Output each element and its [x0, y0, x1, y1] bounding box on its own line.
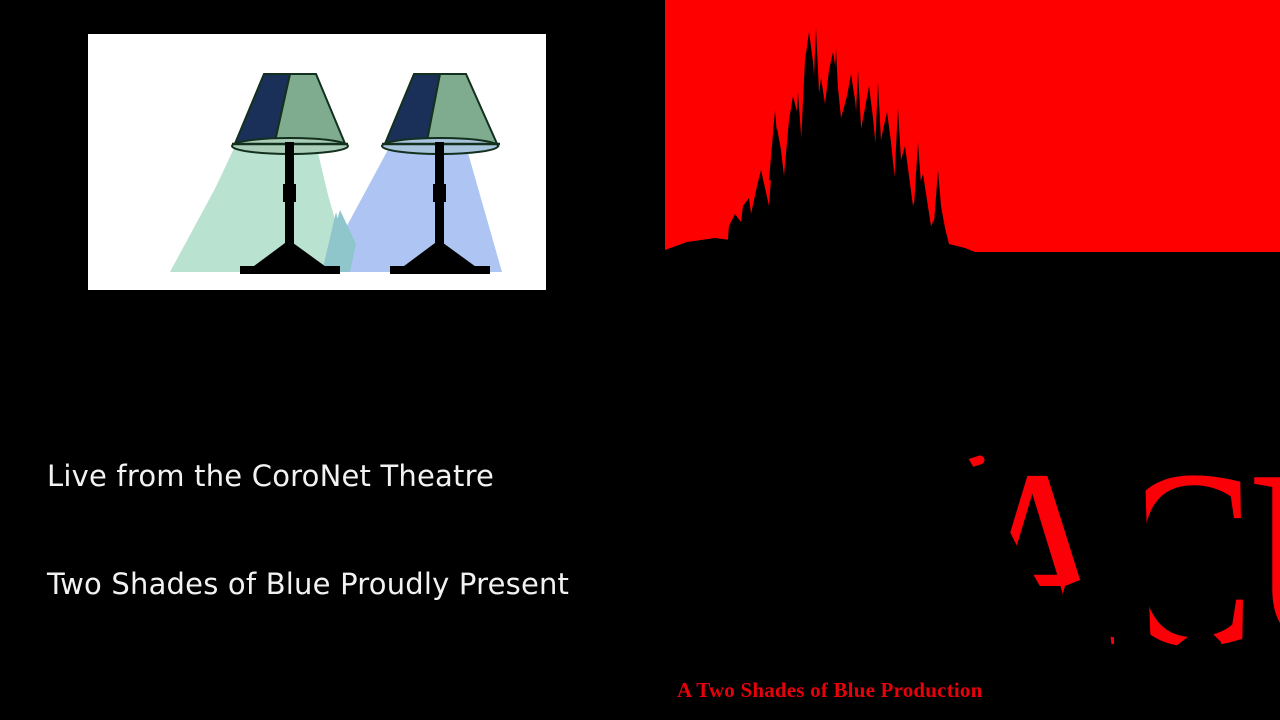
caption-line-1: Live from the CoroNet Theatre: [47, 458, 647, 494]
caption-spacer: [47, 674, 647, 710]
castle-cliff-background: [665, 0, 1280, 720]
caption-block: Live from the CoroNet Theatre Two Shades…: [47, 386, 647, 720]
production-tagline: A Two Shades of Blue Production: [677, 678, 983, 703]
two-shades-of-blue-logo-card: [88, 34, 546, 290]
title-card-stage: Live from the CoroNet Theatre Two Shades…: [0, 0, 1280, 720]
right-panel-poster: DRACULA A Two Shades of Blue Production: [665, 0, 1280, 720]
left-panel: Live from the CoroNet Theatre Two Shades…: [0, 0, 665, 720]
caption-line-2: Two Shades of Blue Proudly Present: [47, 566, 647, 602]
lamps-logo-icon: [88, 34, 546, 290]
